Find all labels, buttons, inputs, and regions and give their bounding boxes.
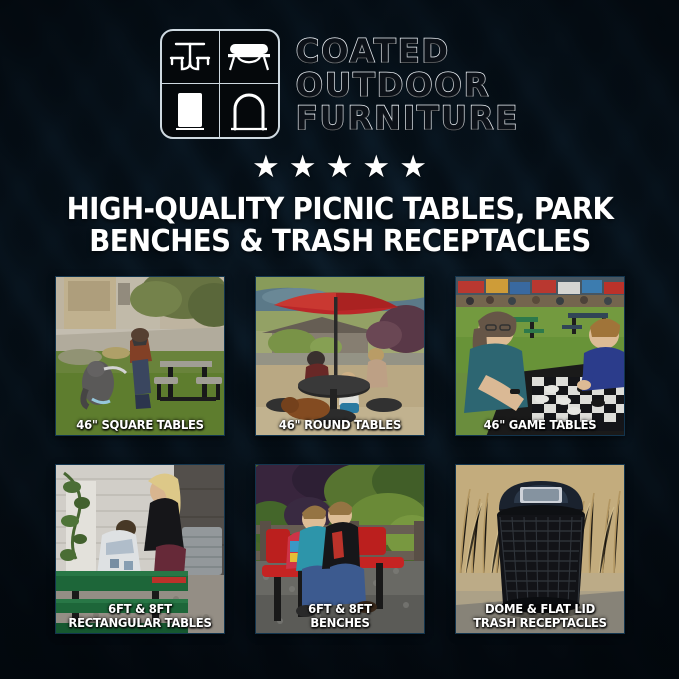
caption-line-1: DOME & FLAT LID [464,602,615,616]
tile-caption-square-tables: 46" SQUARE TABLES [61,418,217,432]
star-icon: ★ [289,151,317,182]
logo-icon-grid [160,29,280,139]
headline-line-1: HIGH-QUALITY PICNIC TABLES, PARK [64,194,616,226]
banner-content: COATED OUTDOOR FURNITURE ★ ★ ★ ★ ★ HIGH-… [0,0,679,679]
trash-receptacle-icon [162,84,220,137]
tile-image-game-tables [456,277,624,435]
star-icon: ★ [326,151,354,182]
star-icon: ★ [399,151,427,182]
product-tile-round-tables[interactable]: 46" ROUND TABLES [255,276,425,436]
product-tile-rectangular-tables[interactable]: 6FT & 8FT RECTANGULAR TABLES [55,464,225,634]
caption-line-1: 46" GAME TABLES [464,418,615,432]
tile-image-square-tables [56,277,224,435]
brand-line-2: OUTDOOR [296,69,519,102]
tile-caption-rectangular-tables: 6FT & 8FT RECTANGULAR TABLES [61,602,217,629]
brand-logo: COATED OUTDOOR FURNITURE [160,26,519,142]
caption-line-1: 46" ROUND TABLES [264,418,415,432]
brand-line-3: FURNITURE [296,102,519,135]
brand-line-1: COATED [296,35,519,68]
tile-caption-trash-receptacles: DOME & FLAT LID TRASH RECEPTACLES [461,602,617,629]
caption-line-1: 6FT & 8FT [264,602,415,616]
caption-line-1: 6FT & 8FT [64,602,215,616]
product-tile-benches[interactable]: 6FT & 8FT BENCHES [255,464,425,634]
tile-image-round-tables [256,277,424,435]
brand-wordmark: COATED OUTDOOR FURNITURE [296,33,519,135]
bike-rack-arch-icon [220,84,278,137]
star-rating: ★ ★ ★ ★ ★ [252,151,427,182]
product-tile-grid: 46" SQUARE TABLES [55,276,625,634]
promo-banner: COATED OUTDOOR FURNITURE ★ ★ ★ ★ ★ HIGH-… [0,0,679,679]
park-bench-icon [220,31,278,84]
tile-caption-game-tables: 46" GAME TABLES [461,418,617,432]
product-tile-trash-receptacles[interactable]: DOME & FLAT LID TRASH RECEPTACLES [455,464,625,634]
star-icon: ★ [362,151,390,182]
tile-caption-benches: 6FT & 8FT BENCHES [261,602,417,629]
product-tile-game-tables[interactable]: 46" GAME TABLES [455,276,625,436]
picnic-table-icon [162,31,220,84]
caption-line-2: BENCHES [264,616,415,630]
product-tile-square-tables[interactable]: 46" SQUARE TABLES [55,276,225,436]
headline-line-2: BENCHES & TRASH RECEPTACLES [64,226,616,258]
caption-line-2: RECTANGULAR TABLES [64,616,215,630]
page-title: HIGH-QUALITY PICNIC TABLES, PARK BENCHES… [64,194,616,258]
star-icon: ★ [252,151,280,182]
caption-line-1: 46" SQUARE TABLES [64,418,215,432]
tile-caption-round-tables: 46" ROUND TABLES [261,418,417,432]
caption-line-2: TRASH RECEPTACLES [464,616,615,630]
